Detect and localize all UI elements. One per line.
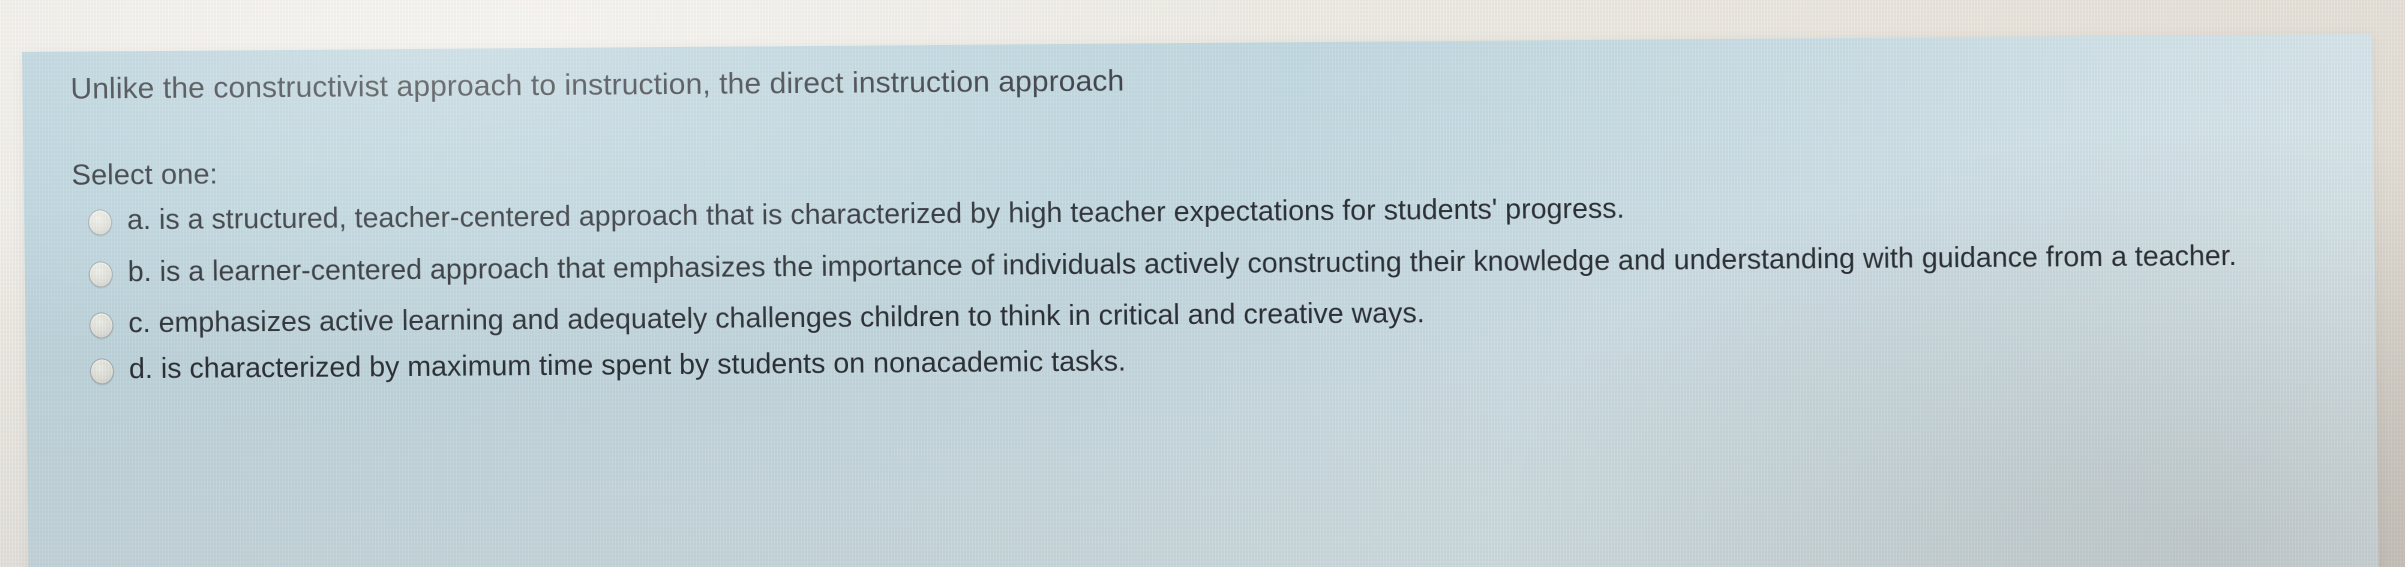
radio-button-icon-b[interactable]	[89, 261, 113, 287]
radio-button-icon-c[interactable]	[89, 313, 113, 339]
radio-button-icon-a[interactable]	[88, 209, 112, 235]
answer-option-c[interactable]: c. emphasizes active learning and adequa…	[73, 290, 2333, 343]
answer-option-a-label: a. is a structured, teacher-centered app…	[127, 192, 1625, 239]
question-card-content: Unlike the constructivist approach to in…	[70, 34, 2332, 59]
answer-option-b[interactable]: b. is a learner-centered approach that e…	[73, 238, 2333, 291]
answer-option-d[interactable]: d. is characterized by maximum time spen…	[74, 335, 2334, 388]
select-one-label: Select one:	[71, 158, 218, 194]
answer-option-a[interactable]: a. is a structured, teacher-centered app…	[72, 186, 2332, 239]
answer-option-d-label: d. is characterized by maximum time spen…	[129, 344, 1126, 387]
question-card: Unlike the constructivist approach to in…	[22, 34, 2379, 567]
answer-option-c-label: c. emphasizes active learning and adequa…	[128, 296, 1425, 342]
photographed-screen: Unlike the constructivist approach to in…	[0, 0, 2405, 567]
radio-button-icon-d[interactable]	[90, 358, 114, 384]
answer-option-b-label: b. is a learner-centered approach that e…	[128, 239, 2237, 291]
answer-option-list: a. is a structured, teacher-centered app…	[72, 186, 2334, 398]
question-stem: Unlike the constructivist approach to in…	[70, 64, 1124, 108]
